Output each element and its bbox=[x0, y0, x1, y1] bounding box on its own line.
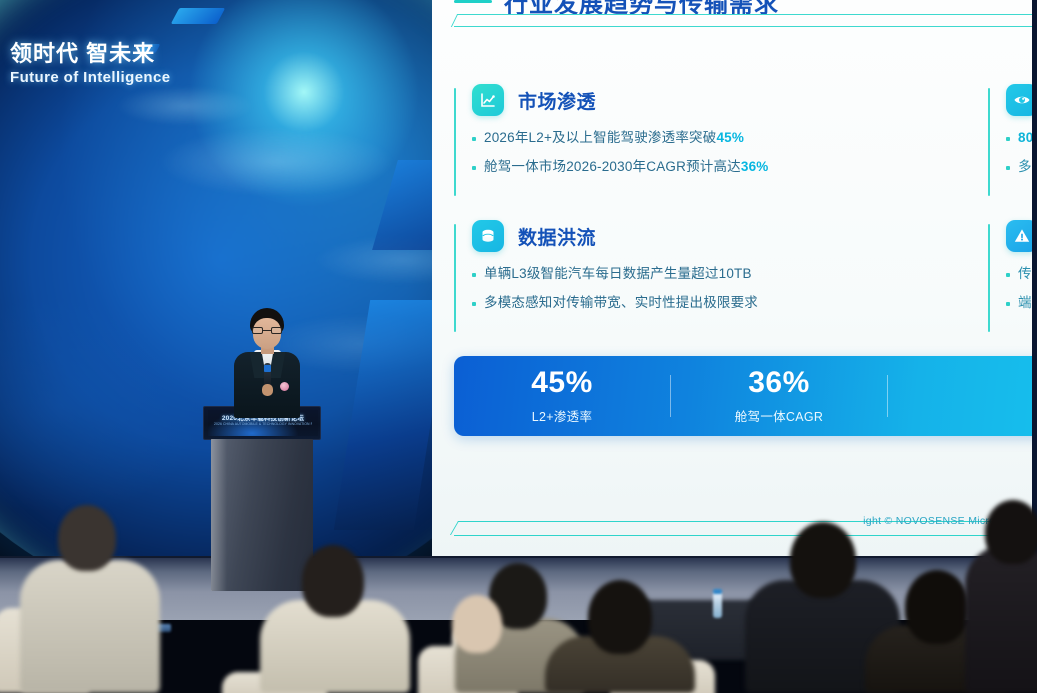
conference-photo-scene: 领时代 智未来 Future of Intelligence 行业发展趋势与传输… bbox=[0, 0, 1037, 693]
audience-torso bbox=[20, 560, 160, 693]
event-logo: 领时代 智未来 Future of Intelligence bbox=[10, 36, 190, 86]
bullet-item: 单辆L3级智能汽车每日数据产生量超过10TB bbox=[472, 265, 966, 283]
stat-cabin-drive-cagr: 36% 舱驾一体CAGR bbox=[671, 367, 887, 425]
chart-line-icon bbox=[472, 84, 504, 116]
glasses-icon bbox=[252, 327, 282, 334]
bullet-item: 舱驾一体市场2026-2030年CAGR预计高达36% bbox=[472, 158, 966, 176]
boutonniere bbox=[280, 382, 289, 391]
bullet-text: 多模态感知对传输带宽、实时性提出极限要求 bbox=[484, 294, 758, 312]
stat-value: 45% bbox=[454, 367, 670, 399]
card-bullet-list: 2026年L2+及以上智能驾驶渗透率突破45% 舱驾一体市场2026-2030年… bbox=[472, 129, 966, 176]
audience-head bbox=[58, 505, 116, 571]
card-column-right-clipped: 800万 多传 bbox=[988, 84, 1037, 338]
bullet-dot-icon bbox=[472, 302, 476, 306]
stat-divider bbox=[887, 375, 888, 417]
decorative-shard bbox=[171, 8, 226, 24]
title-divider bbox=[454, 14, 1037, 30]
audience-head bbox=[905, 570, 969, 644]
audience-head bbox=[790, 522, 856, 598]
stat-label: L2+渗透率 bbox=[454, 406, 670, 425]
database-icon bbox=[472, 220, 504, 252]
stat-label: 舱驾一体CAGR bbox=[671, 406, 887, 425]
bullet-dot-icon bbox=[1006, 302, 1010, 306]
presentation-slide: 行业发展趋势与传输需求 bbox=[432, 0, 1037, 560]
card-title: 市场渗透 bbox=[518, 87, 596, 114]
bullet-text: 舱驾一体市场2026-2030年CAGR预计高达36% bbox=[484, 158, 769, 176]
audience-head bbox=[985, 500, 1037, 564]
card-latency-challenge: 传统 端到 bbox=[988, 220, 1037, 338]
bullet-dot-icon bbox=[1006, 166, 1010, 170]
bottle-cap bbox=[713, 589, 722, 594]
speaker bbox=[228, 308, 306, 418]
audience-head bbox=[588, 580, 652, 654]
event-logo-english: Future of Intelligence bbox=[10, 69, 190, 86]
stat-value: 36% bbox=[671, 367, 887, 399]
bullet-item: 2026年L2+及以上智能驾驶渗透率突破45% bbox=[472, 129, 966, 147]
slide-footer: ight © NOVOSENSE Microelectro bbox=[454, 516, 1037, 542]
bullet-text: 2026年L2+及以上智能驾驶渗透率突破45% bbox=[484, 129, 744, 147]
bullet-item: 多模态感知对传输带宽、实时性提出极限要求 bbox=[472, 294, 966, 312]
audience-head bbox=[302, 545, 364, 617]
screen-right-edge bbox=[1032, 0, 1037, 560]
podium-highlight bbox=[211, 439, 227, 591]
bullet-text: 单辆L3级智能汽车每日数据产生量超过10TB bbox=[484, 265, 752, 283]
speaker-hand bbox=[262, 384, 273, 396]
card-data-deluge: 数据洪流 单辆L3级智能汽车每日数据产生量超过10TB 多模态感知对传输带宽、实… bbox=[454, 220, 966, 338]
audience-torso bbox=[965, 545, 1037, 693]
podium-banner-subtext: 2026 CHINA AUTOMOBILE & TECHNOLOGY INNOV… bbox=[214, 422, 312, 426]
stat-l2-penetration: 45% L2+渗透率 bbox=[454, 367, 670, 425]
card-bullet-list: 单辆L3级智能汽车每日数据产生量超过10TB 多模态感知对传输带宽、实时性提出极… bbox=[472, 265, 966, 312]
bullet-dot-icon bbox=[1006, 273, 1010, 277]
slide-card-grid: 市场渗透 2026年L2+及以上智能驾驶渗透率突破45% 舱驾一体市场2026-… bbox=[454, 84, 1037, 338]
title-accent-dash bbox=[454, 0, 492, 3]
audience-head bbox=[452, 595, 502, 653]
card-sensor-resolution: 800万 多传 bbox=[988, 84, 1037, 202]
bullet-dot-icon bbox=[472, 273, 476, 277]
card-column-left: 市场渗透 2026年L2+及以上智能驾驶渗透率突破45% 舱驾一体市场2026-… bbox=[454, 84, 966, 338]
bullet-dot-icon bbox=[472, 166, 476, 170]
card-market-penetration: 市场渗透 2026年L2+及以上智能驾驶渗透率突破45% 舱驾一体市场2026-… bbox=[454, 84, 966, 202]
water-bottle bbox=[713, 592, 722, 618]
event-logo-chinese: 领时代 智未来 bbox=[10, 36, 190, 68]
key-stats-banner: 45% L2+渗透率 36% 舱驾一体CAGR bbox=[454, 356, 1037, 436]
bullet-dot-icon bbox=[472, 137, 476, 141]
podium: 2026北京车载科技创新论坛 2026 CHINA AUTOMOBILE & T… bbox=[203, 406, 321, 591]
card-title: 数据洪流 bbox=[518, 223, 596, 250]
bullet-dot-icon bbox=[1006, 137, 1010, 141]
microphone-flag bbox=[264, 365, 271, 372]
